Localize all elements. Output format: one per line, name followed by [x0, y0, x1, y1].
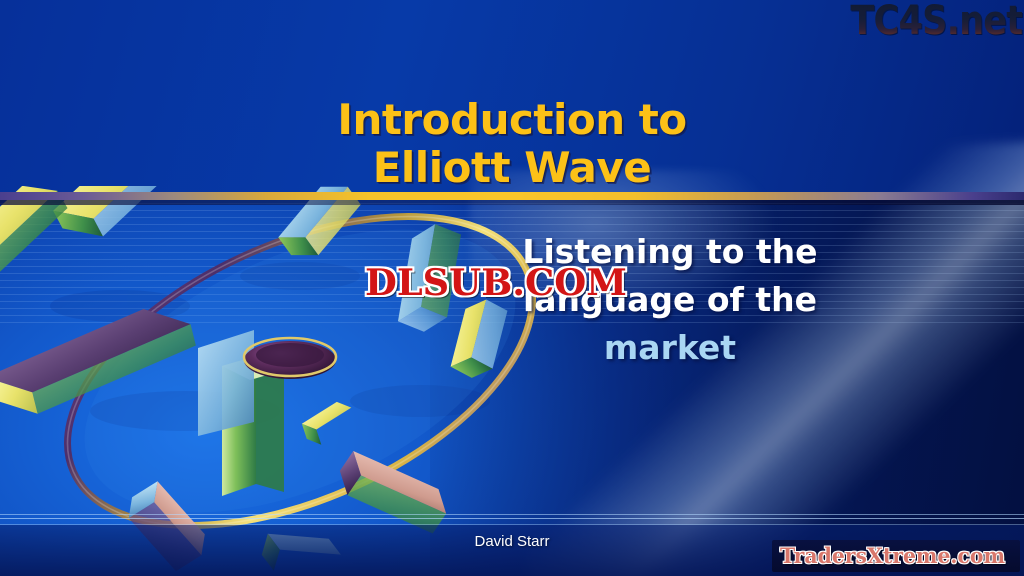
- subtitle-line-3: market: [440, 324, 900, 372]
- presentation-slide: Introduction to Elliott Wave Listening t…: [0, 0, 1024, 576]
- tradersxtreme-watermark-container: TradersXtreme.com: [772, 540, 1020, 572]
- gold-divider-line: [0, 192, 1024, 200]
- slide-title: Introduction to Elliott Wave: [160, 96, 864, 192]
- dlsub-watermark: DLSUB.COM: [365, 262, 627, 304]
- author-name: David Starr: [352, 533, 672, 550]
- tradersxtreme-watermark: TradersXtreme.com: [780, 543, 1005, 568]
- tc4s-watermark: TC4S.net: [850, 0, 1022, 44]
- divider-shadow: [0, 200, 1024, 205]
